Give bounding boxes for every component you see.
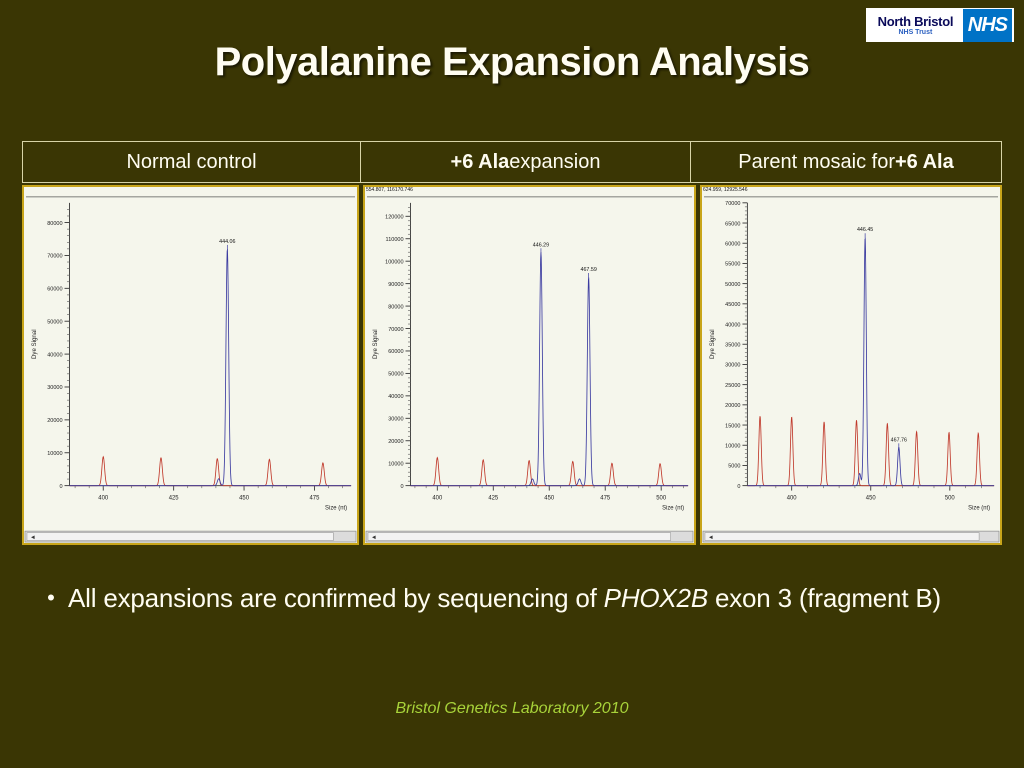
svg-text:10000: 10000 <box>47 451 62 457</box>
svg-text:444.06: 444.06 <box>219 239 235 245</box>
svg-text:446.29: 446.29 <box>533 242 549 248</box>
svg-text:10000: 10000 <box>725 444 740 450</box>
svg-text:400: 400 <box>98 495 109 501</box>
column-header-expansion: +6 Ala expansion <box>361 142 691 182</box>
svg-text:5000: 5000 <box>728 464 740 470</box>
header-label-2: expansion <box>509 151 600 174</box>
electropherogram-row: 0100002000030000400005000060000700008000… <box>22 185 1002 545</box>
svg-text:50000: 50000 <box>725 282 740 288</box>
svg-text:40000: 40000 <box>725 322 740 328</box>
svg-text:450: 450 <box>544 495 555 501</box>
svg-text:450: 450 <box>866 495 877 501</box>
svg-text:Dye Signal: Dye Signal <box>372 329 379 359</box>
chart-corner-readout-2: 554.807, 116170.746 <box>365 187 414 193</box>
svg-text:◄: ◄ <box>371 535 377 541</box>
svg-text:55000: 55000 <box>725 262 740 268</box>
svg-text:30000: 30000 <box>47 385 62 391</box>
svg-text:60000: 60000 <box>47 287 62 293</box>
svg-text:70000: 70000 <box>388 327 403 333</box>
svg-text:20000: 20000 <box>47 418 62 424</box>
svg-text:15000: 15000 <box>725 423 740 429</box>
svg-text:400: 400 <box>432 495 443 501</box>
gene-name: PHOX2B <box>604 583 708 613</box>
svg-text:50000: 50000 <box>388 372 403 378</box>
svg-text:Dye Signal: Dye Signal <box>709 329 716 359</box>
svg-text:500: 500 <box>656 495 667 501</box>
column-header-normal-control: Normal control <box>23 142 361 182</box>
header-bold-3: +6 Ala <box>895 151 954 174</box>
bullet-marker: • <box>34 578 68 618</box>
header-bold-2: +6 Ala <box>451 151 510 174</box>
trust-name-block: North Bristol NHS Trust <box>868 15 963 36</box>
svg-text:50000: 50000 <box>47 319 62 325</box>
chart-corner-readout-3: 624.959, 12925.546 <box>702 187 749 193</box>
trust-name: North Bristol <box>878 15 954 28</box>
header-label-1: Normal control <box>126 151 256 174</box>
svg-text:80000: 80000 <box>388 304 403 310</box>
chart-panel-expansion: 554.807, 116170.746 01000020000300004000… <box>363 185 696 545</box>
svg-text:0: 0 <box>400 484 403 490</box>
svg-text:425: 425 <box>169 495 180 501</box>
bullet-paragraph: • All expansions are confirmed by sequen… <box>34 578 984 618</box>
bullet-body: All expansions are confirmed by sequenci… <box>68 578 941 618</box>
svg-text:467.76: 467.76 <box>891 437 907 443</box>
column-header-parent-mosaic: Parent mosaic for +6 Ala <box>691 142 1001 182</box>
bullet-text-after: exon 3 (fragment B) <box>708 583 941 613</box>
svg-text:40000: 40000 <box>388 394 403 400</box>
svg-text:30000: 30000 <box>725 363 740 369</box>
nhs-mark: NHS <box>963 9 1012 42</box>
nhs-logo: North Bristol NHS Trust NHS <box>866 8 1014 42</box>
svg-text:70000: 70000 <box>725 201 740 207</box>
svg-text:60000: 60000 <box>388 349 403 355</box>
svg-text:110000: 110000 <box>386 237 404 243</box>
column-header-row: Normal control +6 Ala expansion Parent m… <box>22 141 1002 183</box>
svg-text:475: 475 <box>600 495 611 501</box>
svg-text:40000: 40000 <box>47 352 62 358</box>
svg-text:60000: 60000 <box>725 241 740 247</box>
svg-text:◄: ◄ <box>30 535 36 541</box>
svg-text:400: 400 <box>787 495 798 501</box>
trust-subtitle: NHS Trust <box>898 29 932 36</box>
slide-footer: Bristol Genetics Laboratory 2010 <box>0 700 1024 718</box>
chart-panel-normal-control: 0100002000030000400005000060000700008000… <box>22 185 359 545</box>
svg-text:500: 500 <box>945 495 956 501</box>
svg-text:Size (nt): Size (nt) <box>325 505 347 511</box>
svg-text:425: 425 <box>488 495 499 501</box>
svg-text:Dye Signal: Dye Signal <box>31 329 38 359</box>
svg-text:450: 450 <box>239 495 250 501</box>
svg-text:475: 475 <box>310 495 321 501</box>
svg-text:467.59: 467.59 <box>580 267 596 273</box>
svg-text:65000: 65000 <box>725 221 740 227</box>
svg-text:70000: 70000 <box>47 254 62 260</box>
svg-text:Size (nt): Size (nt) <box>662 505 684 511</box>
svg-text:10000: 10000 <box>388 461 403 467</box>
header-label-3: Parent mosaic for <box>738 151 895 174</box>
svg-text:0: 0 <box>59 484 62 490</box>
svg-text:25000: 25000 <box>725 383 740 389</box>
svg-text:45000: 45000 <box>725 302 740 308</box>
chart-panel-parent-mosaic: 624.959, 12925.546 050001000015000200002… <box>700 185 1002 545</box>
svg-text:35000: 35000 <box>725 343 740 349</box>
svg-text:◄: ◄ <box>708 535 714 541</box>
page-title: Polyalanine Expansion Analysis <box>0 40 1024 85</box>
electropherogram-1: 0100002000030000400005000060000700008000… <box>24 187 357 543</box>
svg-text:80000: 80000 <box>47 221 62 227</box>
svg-text:120000: 120000 <box>385 215 403 221</box>
svg-text:0: 0 <box>737 484 740 490</box>
svg-text:20000: 20000 <box>725 403 740 409</box>
svg-text:30000: 30000 <box>388 417 403 423</box>
svg-text:100000: 100000 <box>385 259 403 265</box>
electropherogram-2: 0100002000030000400005000060000700008000… <box>365 187 694 543</box>
svg-text:Size (nt): Size (nt) <box>968 505 990 511</box>
bullet-text-before: All expansions are confirmed by sequenci… <box>68 583 604 613</box>
svg-text:446.45: 446.45 <box>857 227 873 233</box>
electropherogram-3: 0500010000150002000025000300003500040000… <box>702 187 1000 543</box>
svg-text:20000: 20000 <box>388 439 403 445</box>
svg-text:90000: 90000 <box>388 282 403 288</box>
